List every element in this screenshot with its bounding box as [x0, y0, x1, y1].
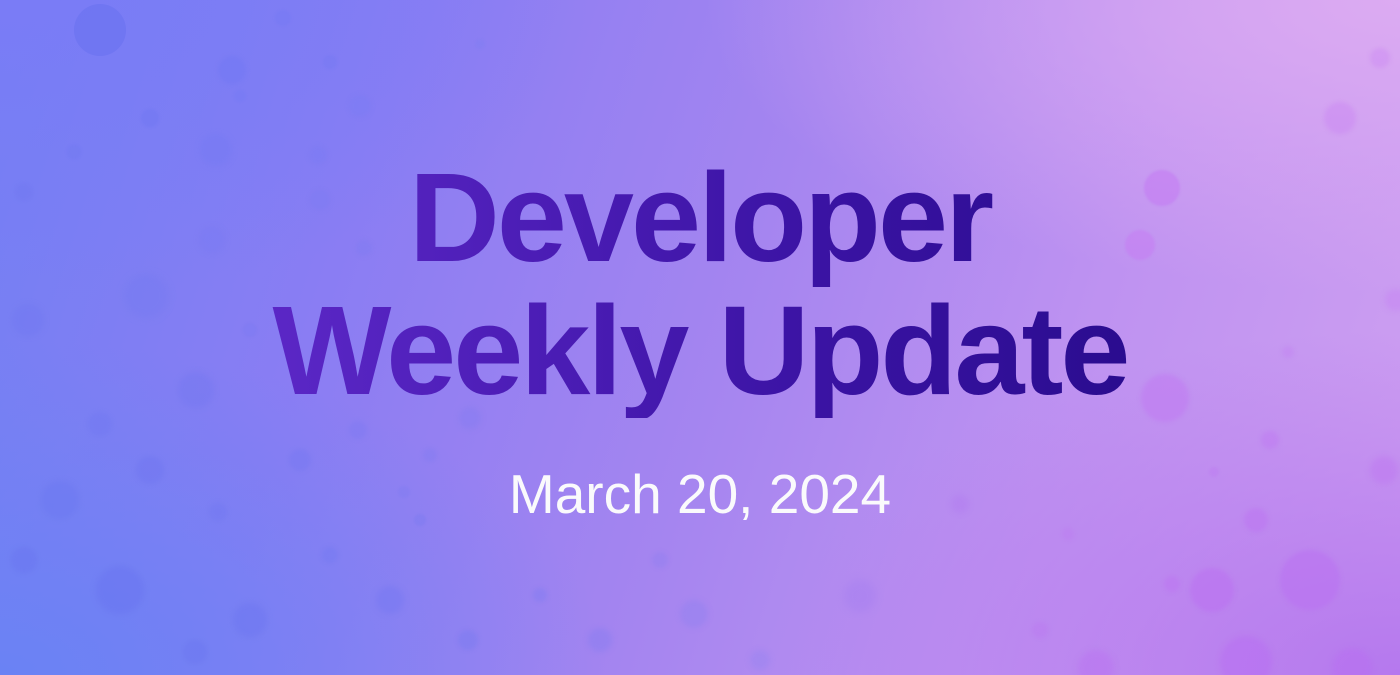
banner-content: Developer Weekly Update March 20, 2024 — [0, 0, 1400, 675]
banner-title-line-2: Weekly Update — [273, 284, 1128, 418]
banner-title-line-1: Developer — [273, 151, 1128, 285]
banner-title: Developer Weekly Update — [267, 151, 1134, 418]
banner-subtitle-date: March 20, 2024 — [509, 464, 891, 525]
developer-weekly-update-banner: Developer Weekly Update March 20, 2024 — [0, 0, 1400, 675]
